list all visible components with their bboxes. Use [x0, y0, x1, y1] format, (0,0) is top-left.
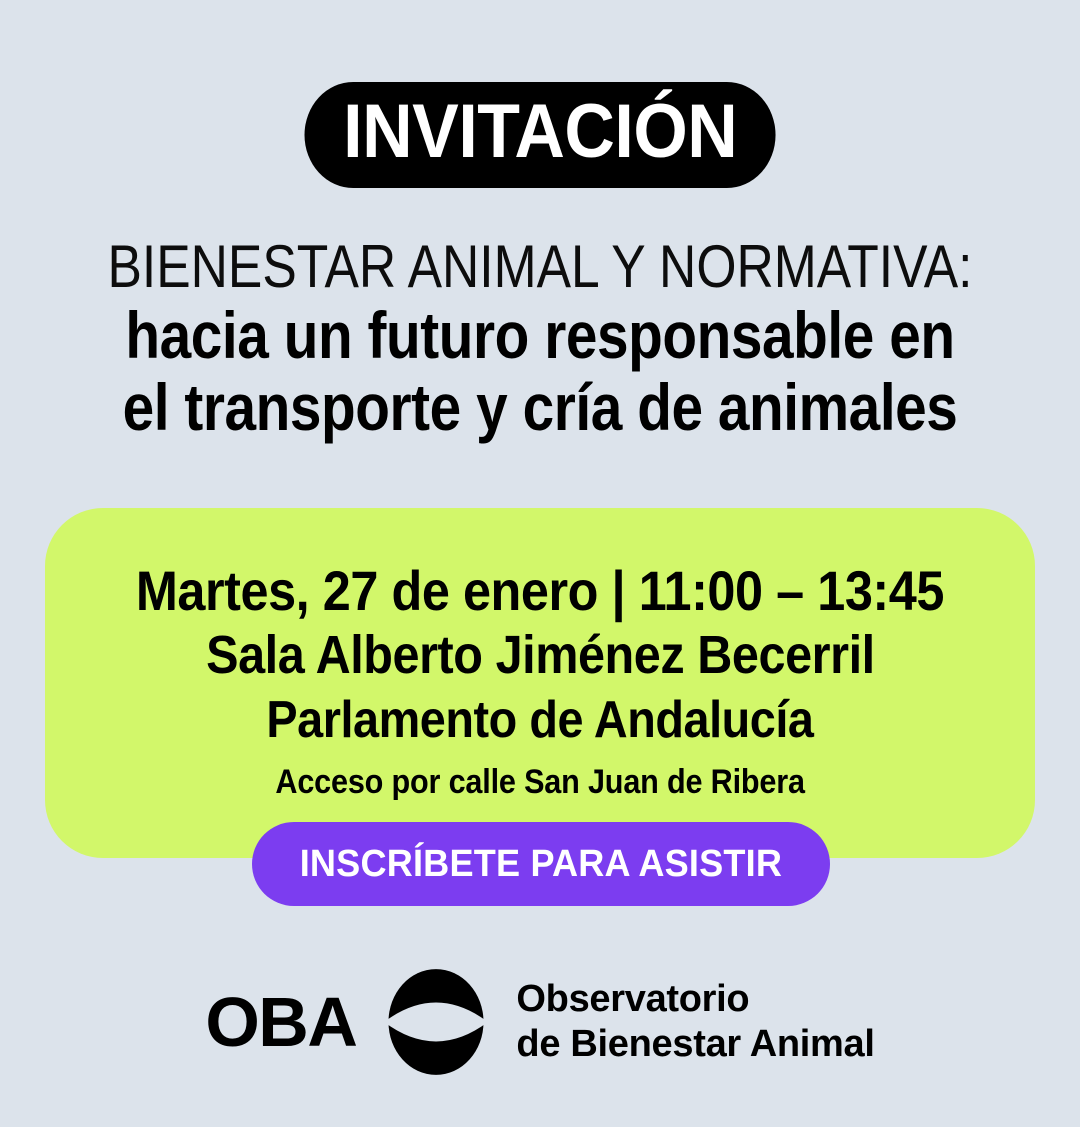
register-button[interactable]: INSCRÍBETE PARA ASISTIR: [252, 822, 830, 906]
oba-name-line-1: Observatorio: [516, 977, 874, 1022]
register-button-label: INSCRÍBETE PARA ASISTIR: [300, 843, 782, 886]
event-venue: Parlamento de Andalucía: [266, 691, 813, 749]
invitation-poster: INVITACIÓN BIENESTAR ANIMAL Y NORMATIVA:…: [0, 0, 1080, 1127]
oba-logo-lockup: OBA Observatorio de Bienestar Animal: [0, 968, 1080, 1076]
event-access-note: Acceso por calle San Juan de Ribera: [275, 763, 804, 802]
headline-line-3: el transporte y cría de animales: [106, 374, 975, 442]
oba-lens-circle-icon: [382, 968, 490, 1076]
event-datetime: Martes, 27 de enero | 11:00 – 13:45: [136, 560, 944, 623]
invitation-badge: INVITACIÓN: [304, 82, 775, 188]
event-room: Sala Alberto Jiménez Becerril: [206, 625, 875, 685]
page-title: BIENESTAR ANIMAL Y NORMATIVA: hacia un f…: [35, 236, 1045, 442]
headline-line-2: hacia un futuro responsable en: [106, 302, 975, 370]
oba-full-name: Observatorio de Bienestar Animal: [516, 977, 874, 1067]
headline-line-1: BIENESTAR ANIMAL Y NORMATIVA:: [106, 236, 975, 298]
badge-container: INVITACIÓN: [0, 82, 1080, 188]
oba-wordmark: OBA: [205, 987, 356, 1057]
oba-name-line-2: de Bienestar Animal: [516, 1022, 874, 1067]
event-details-card: Martes, 27 de enero | 11:00 – 13:45 Sala…: [45, 508, 1035, 858]
